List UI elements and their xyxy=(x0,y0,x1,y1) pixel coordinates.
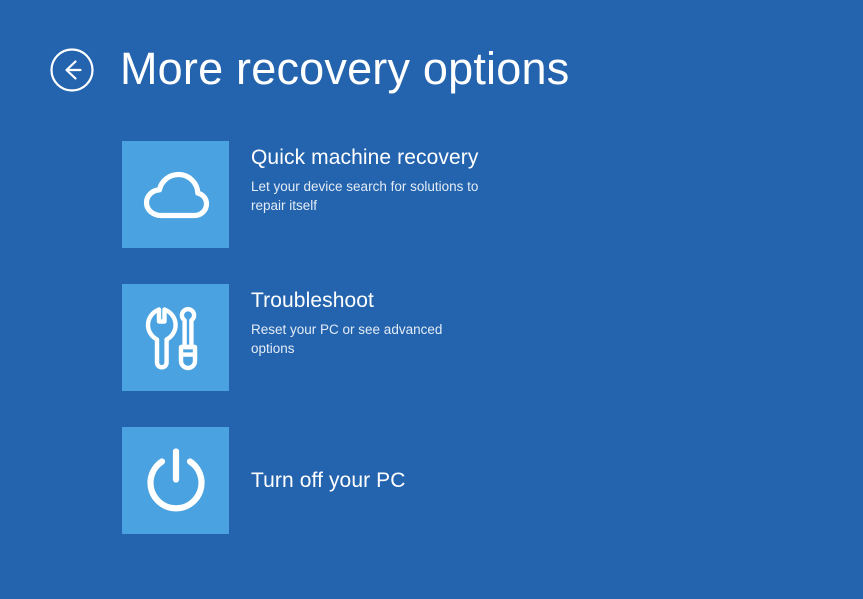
recovery-options-list: Quick machine recovery Let your device s… xyxy=(122,141,822,570)
option-title: Troubleshoot xyxy=(251,287,771,315)
tools-icon xyxy=(143,305,209,371)
cloud-icon xyxy=(141,167,211,223)
option-icon-tile xyxy=(122,284,229,391)
option-troubleshoot[interactable]: Troubleshoot Reset your PC or see advanc… xyxy=(122,284,822,391)
option-text-block: Turn off your PC xyxy=(251,427,771,534)
back-arrow-circle-icon[interactable] xyxy=(49,47,95,93)
recovery-options-screen: More recovery options Quick machine reco… xyxy=(0,0,863,599)
option-title: Turn off your PC xyxy=(251,467,771,495)
screen-header: More recovery options xyxy=(0,0,863,125)
option-icon-tile xyxy=(122,427,229,534)
option-subtitle: Reset your PC or see advanced options xyxy=(251,320,483,358)
option-quick-machine-recovery[interactable]: Quick machine recovery Let your device s… xyxy=(122,141,822,248)
option-title: Quick machine recovery xyxy=(251,144,771,172)
power-icon xyxy=(141,446,211,516)
option-icon-tile xyxy=(122,141,229,248)
option-text-block: Troubleshoot Reset your PC or see advanc… xyxy=(251,284,771,394)
option-text-block: Quick machine recovery Let your device s… xyxy=(251,141,771,251)
page-title: More recovery options xyxy=(120,38,569,100)
option-turn-off-pc[interactable]: Turn off your PC xyxy=(122,427,822,534)
option-subtitle: Let your device search for solutions to … xyxy=(251,177,483,215)
